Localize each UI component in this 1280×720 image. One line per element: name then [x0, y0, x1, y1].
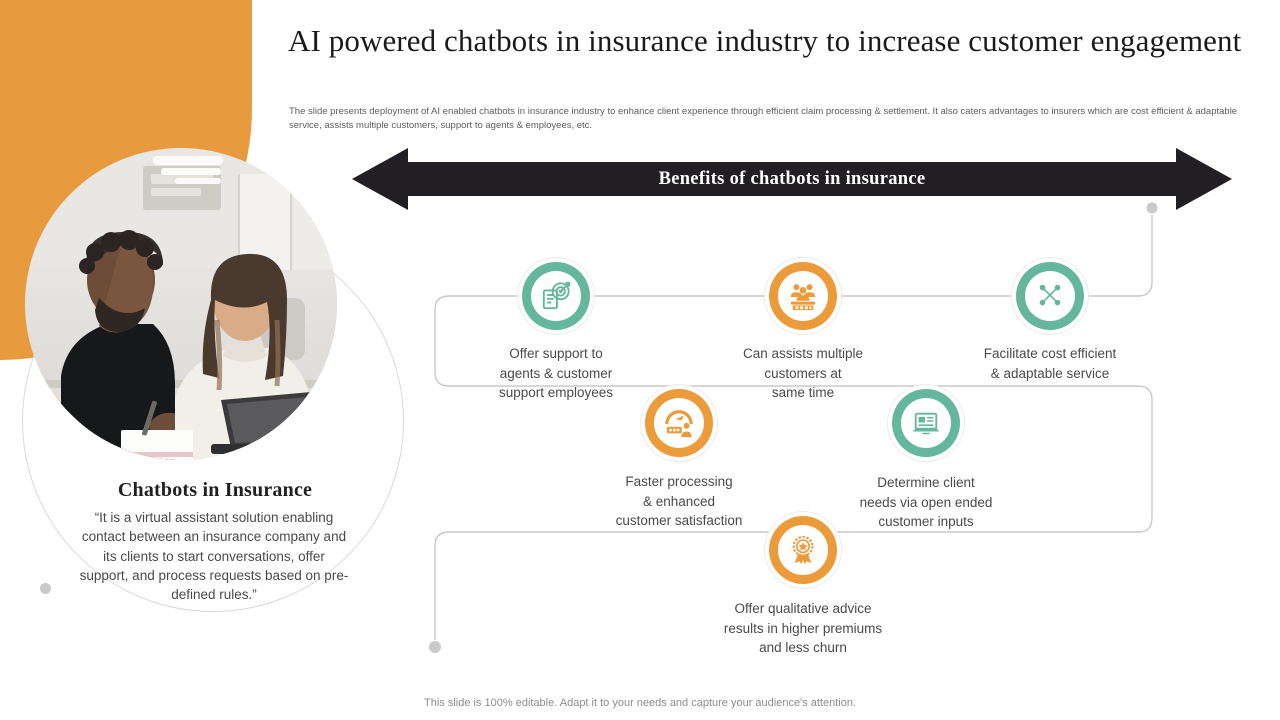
benefit-icon-wrap — [901, 398, 951, 448]
benefit-icon-wrap — [778, 525, 828, 575]
caption-text: Can assists multiplecustomers atsame tim… — [743, 346, 863, 400]
slide-footer-note: This slide is 100% editable. Adapt it to… — [0, 697, 1280, 709]
left-panel-body: “It is a virtual assistant solution enab… — [78, 508, 350, 604]
benefit-caption-assist-multiple: Can assists multiplecustomers atsame tim… — [707, 344, 899, 403]
caption-text: Offer qualitative adviceresults in highe… — [724, 601, 882, 655]
target-document-icon — [541, 281, 571, 311]
benefit-caption-cost-efficient: Facilitate cost efficient& adaptable ser… — [954, 344, 1146, 383]
benefits-banner: Benefits of chatbots in insurance — [352, 148, 1232, 210]
laptop-screen-icon — [911, 408, 941, 438]
left-panel-heading: Chatbots in Insurance — [60, 479, 370, 502]
benefits-banner-label: Benefits of chatbots in insurance — [352, 148, 1232, 210]
benefit-caption-offer-support: Offer support toagents & customersupport… — [460, 344, 652, 403]
benefit-icon-wrap — [531, 271, 581, 321]
benefit-node-cost-efficient[interactable] — [1016, 262, 1084, 330]
team-photo-illustration — [25, 148, 337, 460]
page-subtitle: The slide presents deployment of AI enab… — [289, 105, 1254, 133]
page-title: AI powered chatbots in insurance industr… — [288, 18, 1248, 64]
benefit-node-offer-support[interactable] — [522, 262, 590, 330]
caption-text: Facilitate cost efficient& adaptable ser… — [984, 346, 1117, 381]
benefit-icon-wrap — [654, 398, 704, 448]
benefit-caption-faster-processing: Faster processing& enhancedcustomer sati… — [583, 472, 775, 531]
benefit-node-determine-needs[interactable] — [892, 389, 960, 457]
connector-end-dot — [429, 641, 441, 653]
benefit-icon-wrap — [778, 271, 828, 321]
caption-text: Determine clientneeds via open endedcust… — [860, 475, 993, 529]
caption-text: Offer support toagents & customersupport… — [499, 346, 613, 400]
slide-root: AI powered chatbots in insurance industr… — [0, 0, 1280, 720]
benefit-node-faster-processing[interactable] — [645, 389, 713, 457]
people-group-icon — [788, 281, 818, 311]
benefit-caption-determine-needs: Determine clientneeds via open endedcust… — [830, 473, 1022, 532]
team-photo-circle — [25, 148, 337, 460]
customer-rating-icon — [664, 408, 694, 438]
network-nodes-icon — [1035, 281, 1065, 311]
benefit-icon-wrap — [1025, 271, 1075, 321]
benefit-node-qualitative-advice[interactable] — [769, 516, 837, 584]
benefit-caption-qualitative-advice: Offer qualitative adviceresults in highe… — [690, 599, 916, 658]
award-ribbon-icon — [788, 535, 818, 565]
caption-text: Faster processing& enhancedcustomer sati… — [616, 474, 743, 528]
benefit-node-assist-multiple[interactable] — [769, 262, 837, 330]
